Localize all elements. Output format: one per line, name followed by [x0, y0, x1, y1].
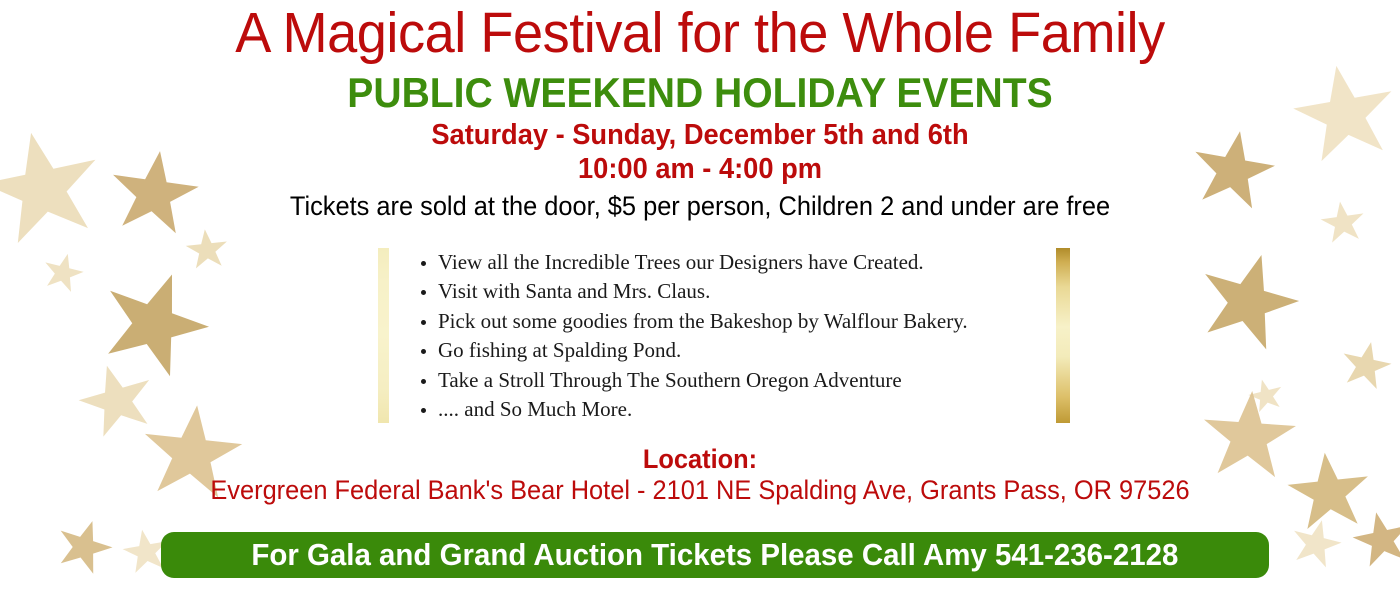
list-item: Go fishing at Spalding Pond. — [438, 336, 968, 365]
list-item: View all the Incredible Trees our Design… — [438, 248, 968, 277]
activities-list: View all the Incredible Trees our Design… — [408, 248, 968, 424]
location-label: Location: — [42, 444, 1358, 475]
call-to-action-text: For Gala and Grand Auction Tickets Pleas… — [252, 538, 1179, 572]
list-item: .... and So Much More. — [438, 395, 968, 424]
activities-panel: View all the Incredible Trees our Design… — [378, 248, 1070, 423]
page-title: A Magical Festival for the Whole Family — [35, 2, 1365, 64]
flyer-content: A Magical Festival for the Whole Family … — [0, 0, 1400, 590]
right-gradient-bar — [1056, 248, 1070, 423]
event-dates: Saturday - Sunday, December 5th and 6th — [42, 118, 1358, 152]
list-item: Take a Stroll Through The Southern Orego… — [438, 366, 968, 395]
event-subtitle: PUBLIC WEEKEND HOLIDAY EVENTS — [49, 70, 1351, 116]
location-address: Evergreen Federal Bank's Bear Hotel - 21… — [42, 474, 1358, 506]
call-to-action-banner[interactable]: For Gala and Grand Auction Tickets Pleas… — [161, 532, 1269, 578]
holiday-events-flyer: A Magical Festival for the Whole Family … — [0, 0, 1400, 590]
list-item: Pick out some goodies from the Bakeshop … — [438, 307, 968, 336]
event-times: 10:00 am - 4:00 pm — [42, 152, 1358, 186]
left-gradient-bar — [378, 248, 389, 423]
list-item: Visit with Santa and Mrs. Claus. — [438, 277, 968, 306]
ticket-pricing-note: Tickets are sold at the door, $5 per per… — [42, 190, 1358, 222]
